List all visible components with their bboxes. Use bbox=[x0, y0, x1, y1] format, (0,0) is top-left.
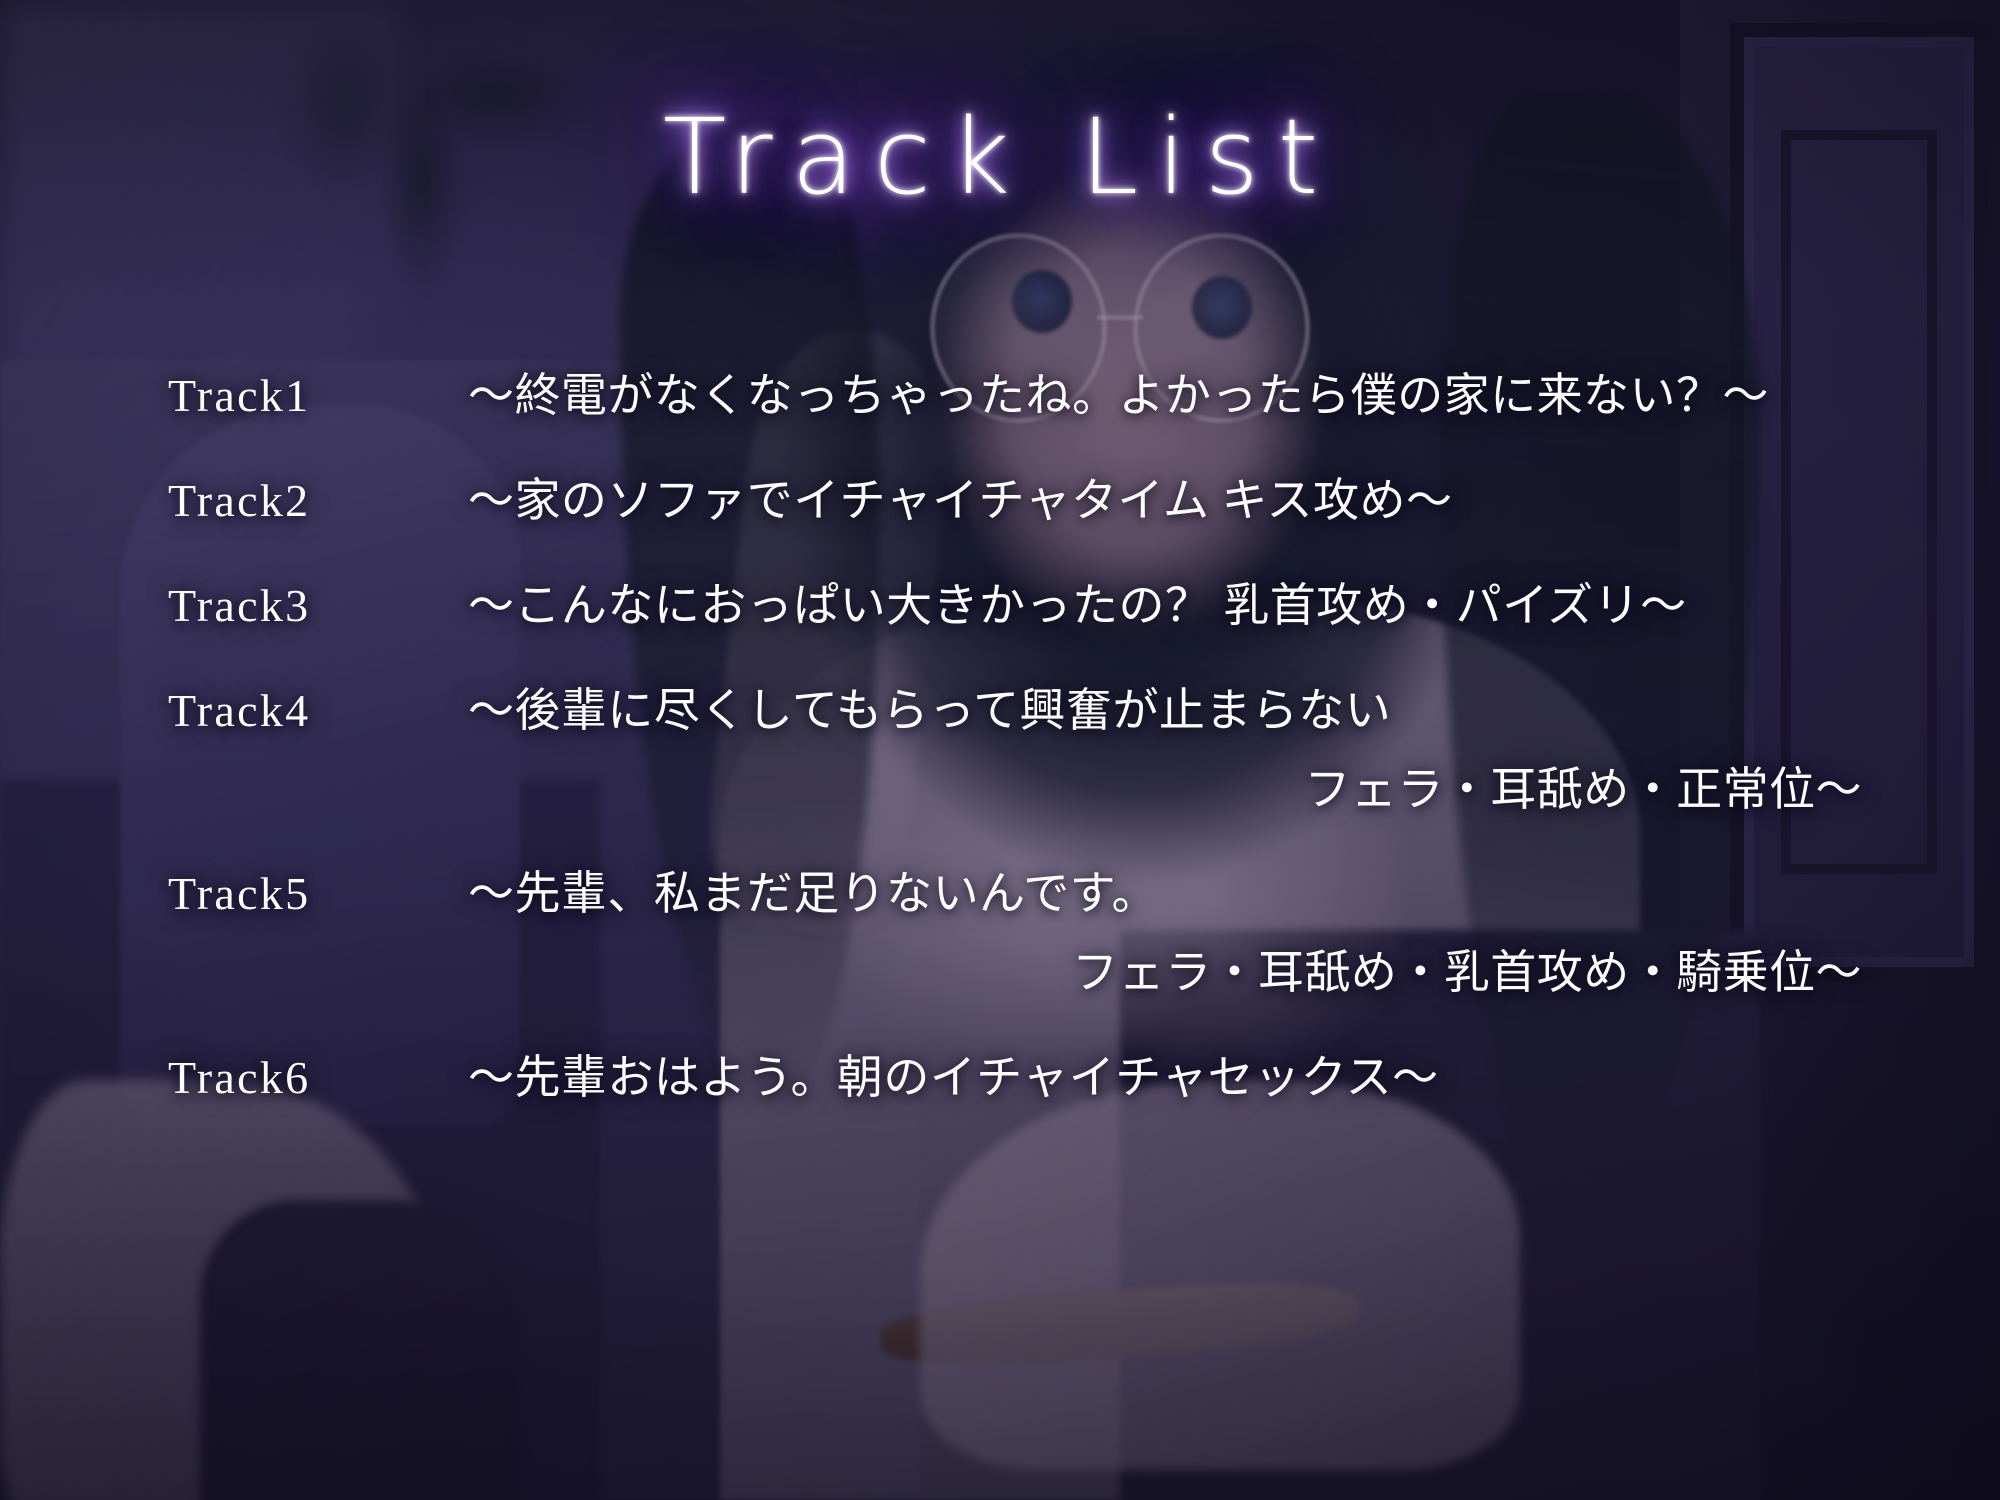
track-label: Track4 bbox=[168, 685, 468, 738]
track-row: Track3 〜こんなにおっぱい大きかったの？ 乳首攻め・パイズリ〜 bbox=[0, 580, 2000, 633]
slide-content: Track List Track1 〜終電がなくなっちゃったね。よかったら僕の家… bbox=[0, 0, 2000, 1500]
track-label: Track1 bbox=[168, 370, 468, 423]
track-subtitle-line: フェラ・耳舐め・乳首攻め・騎乗位〜 bbox=[468, 947, 1940, 1000]
track-label: Track2 bbox=[168, 475, 468, 528]
track-label: Track5 bbox=[168, 868, 468, 921]
track-label: Track3 bbox=[168, 580, 468, 633]
track-subtitle-line: フェラ・耳舐め・正常位〜 bbox=[468, 764, 1940, 817]
track-title-lines: 〜こんなにおっぱい大きかったの？ 乳首攻め・パイズリ〜 bbox=[468, 580, 1940, 633]
track-title-lines: 〜家のソファでイチャイチャタイム キス攻め〜 bbox=[468, 475, 1940, 528]
track-title-line: 〜こんなにおっぱい大きかったの？ 乳首攻め・パイズリ〜 bbox=[468, 580, 1940, 633]
track-list: Track1 〜終電がなくなっちゃったね。よかったら僕の家に来ない？〜 Trac… bbox=[0, 370, 2000, 1157]
track-title-line: 〜先輩、私まだ足りないんです。 bbox=[468, 868, 1940, 921]
track-row: Track6 〜先輩おはよう。朝のイチャイチャセックス〜 bbox=[0, 1052, 2000, 1105]
track-title-line: 〜終電がなくなっちゃったね。よかったら僕の家に来ない？〜 bbox=[468, 370, 1940, 423]
track-title-lines: 〜先輩、私まだ足りないんです。 フェラ・耳舐め・乳首攻め・騎乗位〜 bbox=[468, 868, 1940, 1000]
page-title: Track List bbox=[0, 96, 2000, 218]
track-row: Track1 〜終電がなくなっちゃったね。よかったら僕の家に来ない？〜 bbox=[0, 370, 2000, 423]
track-title-lines: 〜先輩おはよう。朝のイチャイチャセックス〜 bbox=[468, 1052, 1940, 1105]
track-list-slide: Track List Track1 〜終電がなくなっちゃったね。よかったら僕の家… bbox=[0, 0, 2000, 1500]
track-row: Track2 〜家のソファでイチャイチャタイム キス攻め〜 bbox=[0, 475, 2000, 528]
track-title-line: 〜家のソファでイチャイチャタイム キス攻め〜 bbox=[468, 475, 1940, 528]
track-row: Track5 〜先輩、私まだ足りないんです。 フェラ・耳舐め・乳首攻め・騎乗位〜 bbox=[0, 868, 2000, 1000]
track-title-lines: 〜後輩に尽くしてもらって興奮が止まらない フェラ・耳舐め・正常位〜 bbox=[468, 685, 1940, 817]
track-title-lines: 〜終電がなくなっちゃったね。よかったら僕の家に来ない？〜 bbox=[468, 370, 1940, 423]
track-title-line: 〜先輩おはよう。朝のイチャイチャセックス〜 bbox=[468, 1052, 1940, 1105]
track-title-line: 〜後輩に尽くしてもらって興奮が止まらない bbox=[468, 685, 1940, 738]
track-row: Track4 〜後輩に尽くしてもらって興奮が止まらない フェラ・耳舐め・正常位〜 bbox=[0, 685, 2000, 817]
track-label: Track6 bbox=[168, 1052, 468, 1105]
